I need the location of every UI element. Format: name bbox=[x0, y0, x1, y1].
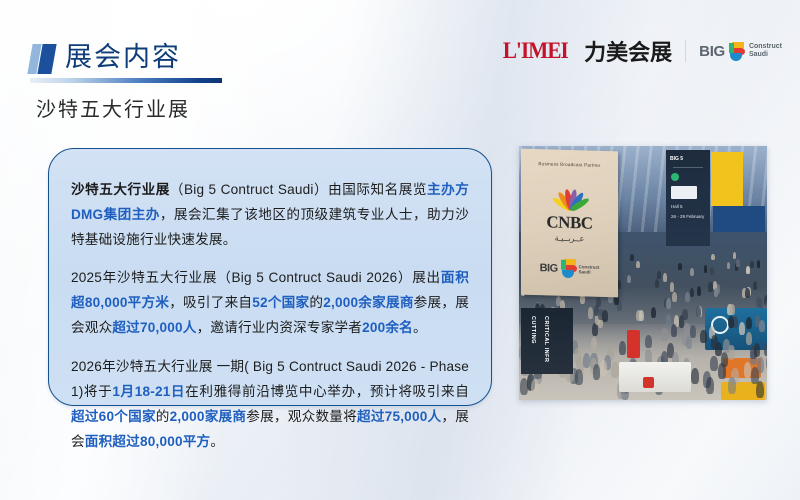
text-run-highlight: 1月18-21日 bbox=[112, 384, 185, 399]
side-panel-line2: CRITICAL INFR bbox=[543, 316, 549, 362]
photo-hanging-sign: BIG 5 Hall 5 26 - 29 February bbox=[666, 150, 710, 246]
text-run-normal: 。 bbox=[210, 434, 224, 449]
limei-latin-logo: L'IMEI bbox=[503, 38, 568, 64]
brand-logo-bar: L'IMEI 力美会展 BIG Construct Saudi bbox=[500, 36, 782, 66]
exhibition-hall-photo: BIG 5 Hall 5 26 - 29 February CUTTING CR… bbox=[519, 146, 767, 400]
banner-big5-logo: BIG Construct Saudi bbox=[521, 258, 618, 280]
banner-partner-text: Business Broadcast Partner bbox=[521, 161, 618, 169]
hanging-sign-box bbox=[671, 186, 697, 199]
photo-red-pillar bbox=[627, 330, 640, 358]
logo-divider bbox=[685, 40, 686, 62]
limei-chinese-logo: 力美会展 bbox=[584, 35, 672, 67]
peacock-icon bbox=[543, 175, 597, 211]
banner-brand: CNBC bbox=[521, 212, 618, 235]
text-run-bold: 沙特五大行业展 bbox=[71, 182, 170, 197]
big5-line2: Saudi bbox=[749, 51, 782, 59]
text-run-highlight: 超过75,000人 bbox=[357, 409, 441, 424]
text-run-normal: ，邀请行业内资深专家学者 bbox=[197, 320, 363, 335]
page-title: 展会内容 bbox=[65, 40, 181, 74]
big5-subtitle: Construct Saudi bbox=[749, 43, 782, 59]
paragraph-1: 沙特五大行业展（Big 5 Contruct Saudi）由国际知名展览主办方D… bbox=[71, 177, 469, 252]
text-run-normal: 在利雅得前沿博览中心举办，预计将吸引来自 bbox=[185, 384, 469, 399]
text-run-highlight: 超过60个国家 bbox=[71, 409, 156, 424]
photo-white-booth bbox=[619, 362, 691, 392]
photo-blue-sign bbox=[713, 206, 765, 232]
text-run-highlight: 2,000家展商 bbox=[170, 409, 247, 424]
slide-root: 展会内容 沙特五大行业展 L'IMEI 力美会展 BIG Construct S… bbox=[0, 0, 800, 500]
paragraph-2: 2025年沙特五大行业展（Big 5 Contruct Saudi 2026）展… bbox=[71, 265, 469, 340]
big5-numeral-icon bbox=[728, 42, 745, 61]
big5-line1: Construct bbox=[749, 43, 782, 51]
content-card: 沙特五大行业展（Big 5 Contruct Saudi）由国际知名展览主办方D… bbox=[48, 148, 492, 406]
big5-logo: BIG Construct Saudi bbox=[699, 42, 782, 61]
title-accent-icon bbox=[30, 44, 56, 74]
side-panel-line1: CUTTING bbox=[530, 316, 536, 344]
text-run-normal: 2025年沙特五大行业展（Big 5 Contruct Saudi 2026）展… bbox=[71, 270, 441, 285]
text-run-highlight: 52个国家 bbox=[252, 295, 309, 310]
text-run-normal: （Big 5 Contruct Saudi）由国际知名展览 bbox=[170, 182, 427, 197]
cnbc-banner: Business Broadcast Partner CNBC عــربــي… bbox=[521, 149, 618, 298]
hanging-sign-dates: 26 - 29 February bbox=[671, 214, 710, 219]
text-run-highlight: 面积超过80,000平方 bbox=[85, 434, 211, 449]
photo-yellow-sign bbox=[711, 152, 743, 206]
banner-big5-subtitle: Construct Saudi bbox=[579, 264, 600, 275]
photo-side-panel: CUTTING CRITICAL INFR bbox=[521, 308, 573, 374]
text-run-normal: ，吸引了来自 bbox=[169, 295, 252, 310]
text-run-normal: 的 bbox=[156, 409, 170, 424]
text-run-normal: 。 bbox=[413, 320, 427, 335]
banner-big5-line2: Saudi bbox=[579, 269, 600, 275]
text-run-highlight: 200余名 bbox=[362, 320, 413, 335]
text-run-normal: 参展，观众数量将 bbox=[246, 409, 357, 424]
paragraph-3: 2026年沙特五大行业展 一期( Big 5 Contruct Saudi 20… bbox=[71, 354, 469, 454]
text-run-highlight: 2,000余家展商 bbox=[323, 295, 413, 310]
big5-word: BIG bbox=[699, 43, 725, 60]
text-run-highlight: 超过70,000人 bbox=[112, 320, 196, 335]
hanging-sign-title: BIG 5 bbox=[670, 156, 710, 162]
hanging-sign-dot-icon bbox=[671, 173, 679, 181]
banner-big5-word: BIG bbox=[540, 262, 558, 275]
banner-arabic: عــربــيـة bbox=[521, 233, 618, 245]
page-subtitle: 沙特五大行业展 bbox=[36, 93, 190, 122]
banner-big5-numeral-icon bbox=[560, 259, 577, 278]
text-run-normal: 的 bbox=[309, 295, 323, 310]
title-underline bbox=[30, 78, 222, 83]
hanging-sign-hall: Hall 5 bbox=[671, 204, 710, 209]
